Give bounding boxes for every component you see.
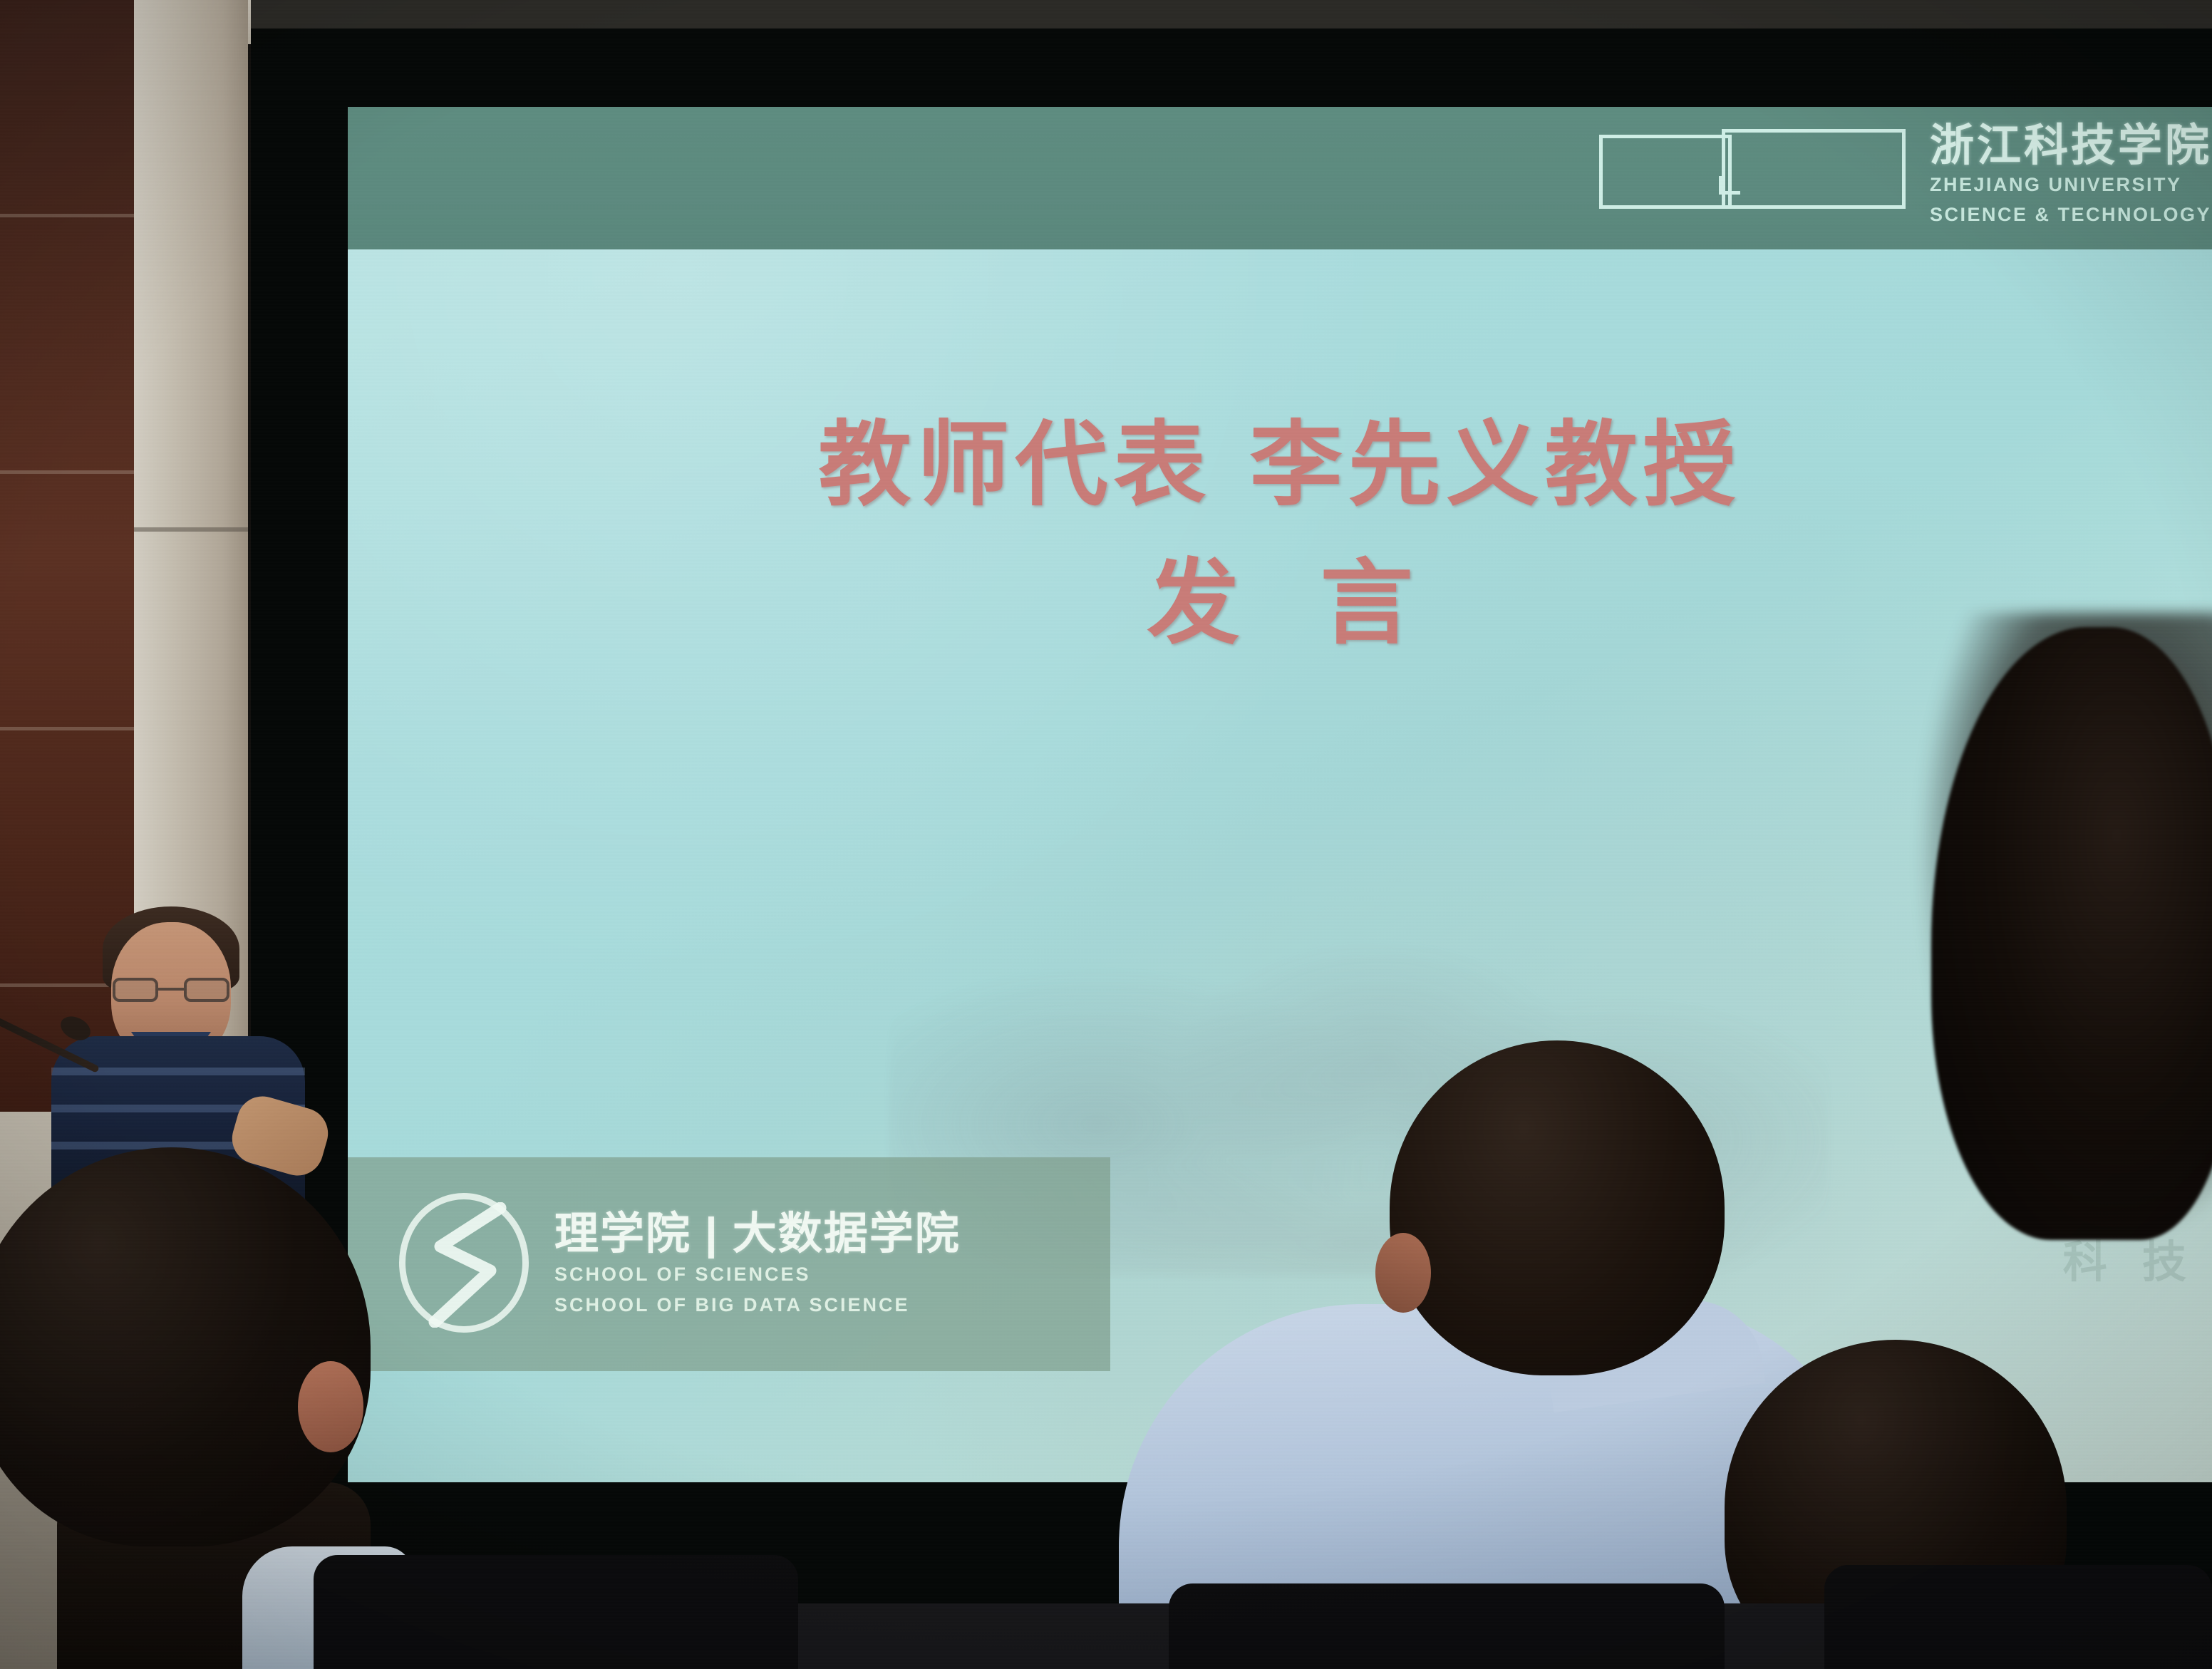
school-name-en-line2: SCHOOL OF BIG DATA SCIENCE [554, 1293, 961, 1318]
slide-title-line-1: 教师代表 李先义教授 [818, 413, 1741, 517]
audience-right-bushy-hair [1917, 627, 2212, 1354]
university-name-cn: 浙江科技学院 [1930, 124, 2212, 168]
lecture-hall-photo: 浙江科技学院 ZHEJIANG UNIVERSITY SCIENCE & TEC… [0, 0, 2212, 1669]
column-seam [134, 527, 248, 532]
audience-center [1240, 1040, 1796, 1669]
chair-back [1824, 1565, 2212, 1669]
chair-back [314, 1555, 798, 1669]
university-name-en-line1: ZHEJIANG UNIVERSITY [1930, 172, 2212, 198]
screen-top-bar [251, 0, 2212, 29]
school-name-cn: 理学院 | 大数据学院 [554, 1211, 961, 1257]
slide-title-line-2: 发 言 [1122, 552, 1437, 656]
slide-header-band: 浙江科技学院 ZHEJIANG UNIVERSITY SCIENCE & TEC… [348, 107, 2212, 249]
university-name-en-line2: SCIENCE & TECHNOLOGY [1930, 202, 2212, 228]
chair-back [1169, 1583, 1725, 1669]
university-logo: 浙江科技学院 ZHEJIANG UNIVERSITY SCIENCE & TEC… [1599, 124, 2212, 227]
presenter-glasses [113, 978, 229, 1002]
school-name-en-line1: SCHOOL OF SCIENCES [554, 1262, 961, 1287]
university-mark-icon [1599, 135, 1906, 217]
